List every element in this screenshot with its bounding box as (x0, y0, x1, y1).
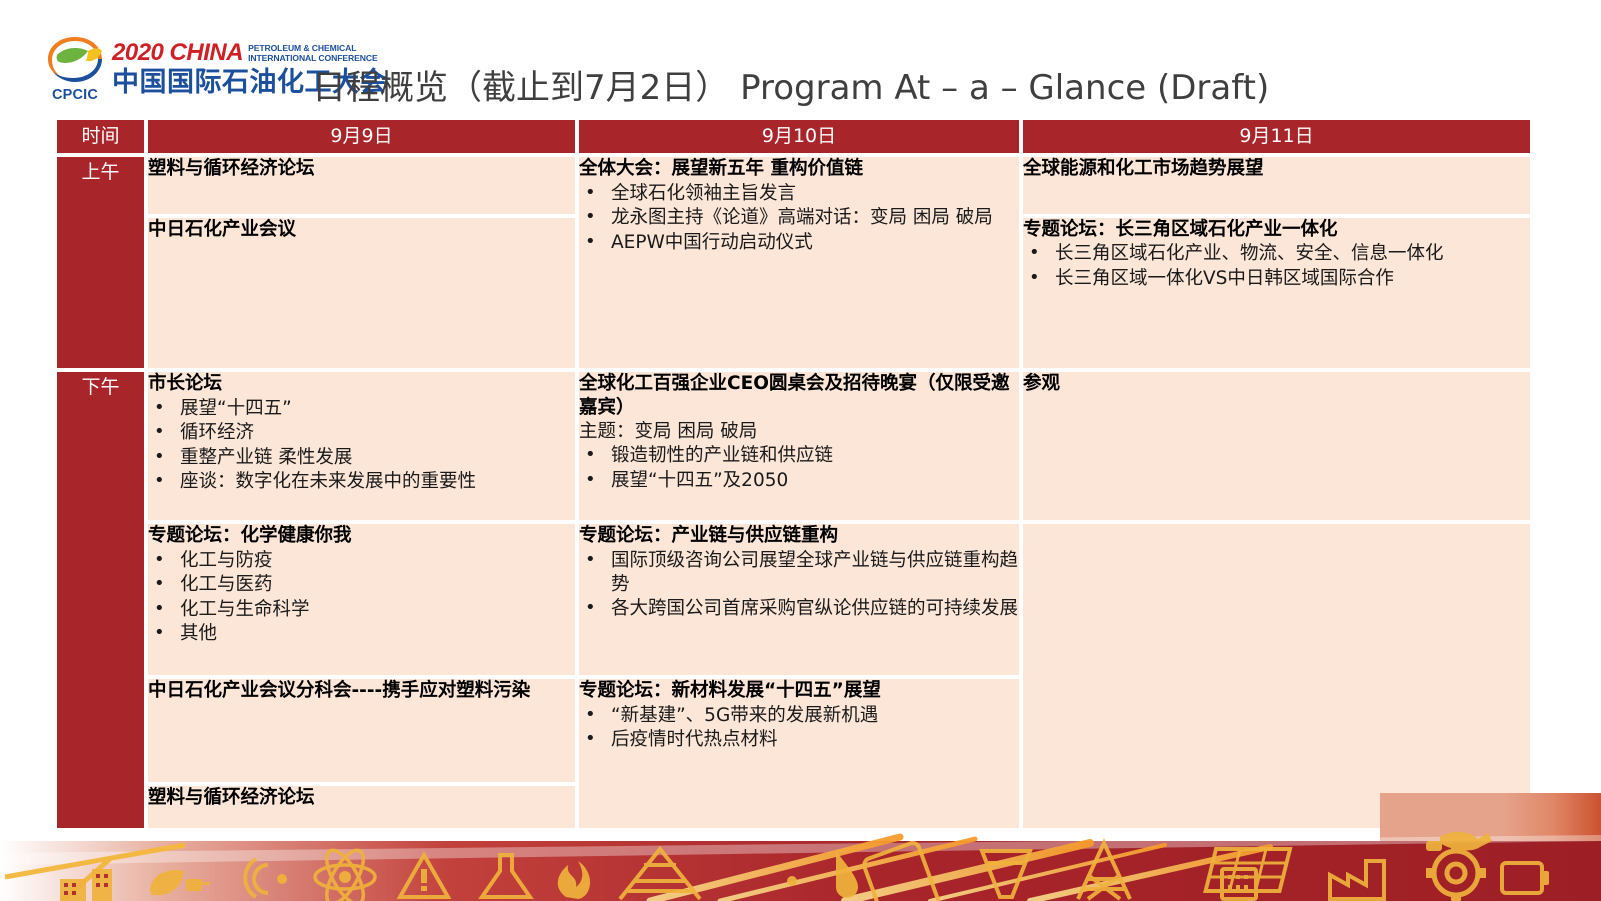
table-row-afternoon-2: 专题论坛：化学健康你我 化工与防疫 化工与医药 化工与生命科学 其他 专题论坛：… (55, 522, 1532, 677)
bullet-list: 展望“十四五” 循环经济 重整产业链 柔性发展 座谈：数字化在未来发展中的重要性 (148, 397, 575, 495)
cell-title: 专题论坛：化学健康你我 (148, 524, 575, 548)
cell-subtitle: 主题：变局 困局 破局 (579, 420, 1019, 444)
list-item: 龙永图主持《论道》高端对话：变局 困局 破局 (579, 206, 1019, 230)
cell-d3-afternoon-empty (1021, 522, 1532, 830)
table-row-morning-1: 上午 塑料与循环经济论坛 全体大会：展望新五年 重构价值链 全球石化领袖主旨发言… (55, 155, 1532, 216)
cell-d1-afternoon-2: 专题论坛：化学健康你我 化工与防疫 化工与医药 化工与生命科学 其他 (146, 522, 577, 677)
list-item: 重整产业链 柔性发展 (148, 446, 575, 470)
cell-title: 塑料与循环经济论坛 (148, 157, 575, 181)
column-header-day3: 9月11日 (1021, 118, 1532, 155)
list-item: “新基建”、5G带来的发展新机遇 (579, 704, 1019, 728)
column-header-day2: 9月10日 (577, 118, 1021, 155)
cell-d2-afternoon-1: 全球化工百强企业CEO圆桌会及招待晚宴（仅限受邀嘉宾） 主题：变局 困局 破局 … (577, 370, 1021, 522)
list-item: 国际顶级咨询公司展望全球产业链与供应链重构趋势 (579, 549, 1019, 597)
list-item: 其他 (148, 622, 575, 646)
cell-title: 中日石化产业会议分科会----携手应对塑料污染 (148, 679, 575, 703)
agenda-table: 时间 9月9日 9月10日 9月11日 上午 塑料与循环经济论坛 全体大会：展望… (55, 118, 1532, 830)
list-item: 循环经济 (148, 421, 575, 445)
slide-canvas: CPCIC 2020 CHINA PETROLEUM & CHEMICAL IN… (0, 0, 1601, 901)
list-item: 展望“十四五” (148, 397, 575, 421)
cell-d2-afternoon-2: 专题论坛：产业链与供应链重构 国际顶级咨询公司展望全球产业链与供应链重构趋势 各… (577, 522, 1021, 677)
list-item: 锻造韧性的产业链和供应链 (579, 444, 1019, 468)
cell-title: 专题论坛：新材料发展“十四五”展望 (579, 679, 1019, 703)
time-cell-morning: 上午 (55, 155, 146, 370)
list-item: 长三角区域一体化VS中日韩区域国际合作 (1023, 267, 1530, 291)
cell-d1-afternoon-3: 中日石化产业会议分科会----携手应对塑料污染 (146, 677, 577, 784)
logo-year-label: 2020 CHINA (112, 41, 243, 65)
swoosh-icon (46, 35, 104, 84)
cell-title: 全体大会：展望新五年 重构价值链 (579, 157, 1019, 181)
logo-mark: CPCIC (44, 35, 106, 103)
cell-title: 专题论坛：长三角区域石化产业一体化 (1023, 218, 1530, 242)
cell-title: 参观 (1023, 372, 1530, 396)
cell-d1-morning-1: 塑料与循环经济论坛 (146, 155, 577, 216)
list-item: 全球石化领袖主旨发言 (579, 182, 1019, 206)
cell-d1-morning-2: 中日石化产业会议 (146, 216, 577, 370)
list-item: 化工与生命科学 (148, 598, 575, 622)
bullet-list: 锻造韧性的产业链和供应链 展望“十四五”及2050 (579, 444, 1019, 493)
list-item: 化工与防疫 (148, 549, 575, 573)
page-title: 日程概览（截止到7月2日） Program At – a – Glance (D… (312, 60, 1269, 109)
cell-d3-morning-bottom: 专题论坛：长三角区域石化产业一体化 长三角区域石化产业、物流、安全、信息一体化 … (1021, 216, 1532, 370)
list-item: 座谈：数字化在未来发展中的重要性 (148, 470, 575, 494)
cell-d3-afternoon-1: 参观 (1021, 370, 1532, 522)
cell-title: 市长论坛 (148, 372, 575, 396)
list-item: 化工与医药 (148, 573, 575, 597)
bullet-list: 全球石化领袖主旨发言 龙永图主持《论道》高端对话：变局 困局 破局 AEPW中国… (579, 182, 1019, 255)
bullet-list: 国际顶级咨询公司展望全球产业链与供应链重构趋势 各大跨国公司首席采购官纵论供应链… (579, 549, 1019, 622)
cell-title: 专题论坛：产业链与供应链重构 (579, 524, 1019, 548)
table-header-row: 时间 9月9日 9月10日 9月11日 (55, 118, 1532, 155)
cell-d2-morning: 全体大会：展望新五年 重构价值链 全球石化领袖主旨发言 龙永图主持《论道》高端对… (577, 155, 1021, 370)
list-item: 后疫情时代热点材料 (579, 728, 1019, 752)
column-header-time: 时间 (55, 118, 146, 155)
list-item: AEPW中国行动启动仪式 (579, 231, 1019, 255)
footer-decoration (0, 793, 1601, 901)
list-item: 展望“十四五”及2050 (579, 469, 1019, 493)
logo-en-line1: PETROLEUM & CHEMICAL (248, 43, 378, 53)
bullet-list: 长三角区域石化产业、物流、安全、信息一体化 长三角区域一体化VS中日韩区域国际合… (1023, 242, 1530, 291)
bullet-list: “新基建”、5G带来的发展新机遇 后疫情时代热点材料 (579, 704, 1019, 753)
time-cell-afternoon: 下午 (55, 370, 146, 830)
footer-decor-graphic (0, 793, 1601, 901)
cell-title: 中日石化产业会议 (148, 218, 575, 242)
list-item: 各大跨国公司首席采购官纵论供应链的可持续发展 (579, 597, 1019, 621)
cell-d1-afternoon-1: 市长论坛 展望“十四五” 循环经济 重整产业链 柔性发展 座谈：数字化在未来发展… (146, 370, 577, 522)
cell-d3-morning-top: 全球能源和化工市场趋势展望 (1021, 155, 1532, 216)
cell-title: 全球能源和化工市场趋势展望 (1023, 157, 1530, 181)
table-row-afternoon-1: 下午 市长论坛 展望“十四五” 循环经济 重整产业链 柔性发展 座谈：数字化在未… (55, 370, 1532, 522)
cpcic-logo: CPCIC 2020 CHINA PETROLEUM & CHEMICAL IN… (44, 33, 306, 105)
list-item: 长三角区域石化产业、物流、安全、信息一体化 (1023, 242, 1530, 266)
slide-header: CPCIC 2020 CHINA PETROLEUM & CHEMICAL IN… (0, 0, 1601, 118)
cell-title: 全球化工百强企业CEO圆桌会及招待晚宴（仅限受邀嘉宾） (579, 372, 1019, 419)
bullet-list: 化工与防疫 化工与医药 化工与生命科学 其他 (148, 549, 575, 647)
logo-wordmark: CPCIC (44, 88, 106, 103)
column-header-day1: 9月9日 (146, 118, 577, 155)
